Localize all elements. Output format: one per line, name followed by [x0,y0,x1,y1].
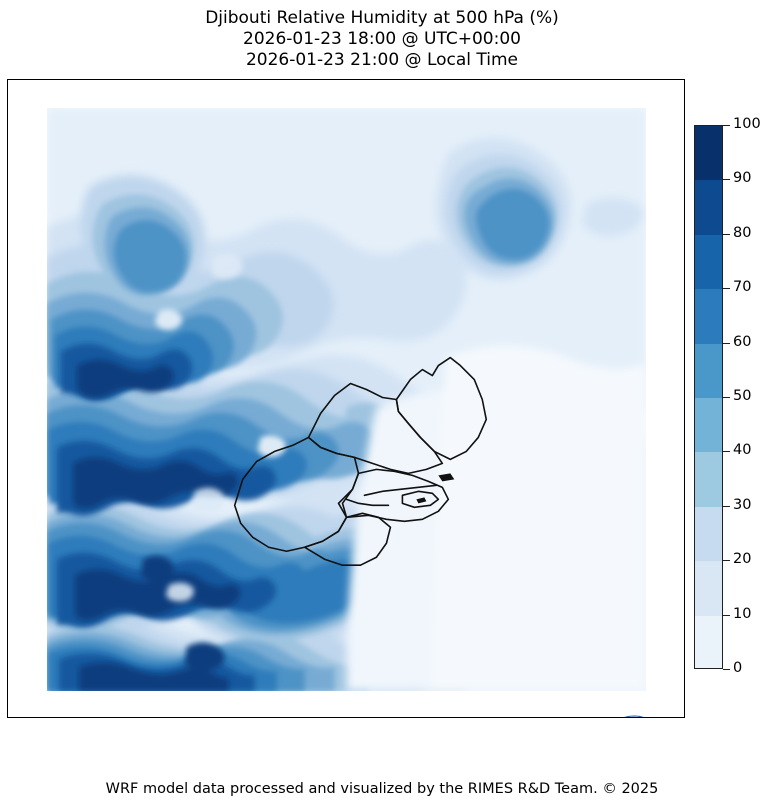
colorbar-band [695,235,722,289]
colorbar-band [695,561,722,615]
map-panel: RIMES [7,79,685,718]
colorbar-band [695,344,722,398]
colorbar-tick-label: 100 [733,117,761,132]
colorbar-band [695,452,722,506]
rimes-logo: RIMES [597,714,671,718]
colorbar-tick-label: 50 [733,389,751,404]
colorbar-tick [723,669,730,670]
colorbar-tick [723,343,730,344]
colorbar-tick-label: 60 [733,335,751,350]
colorbar-tick [723,397,730,398]
colorbar-band [695,398,722,452]
colorbar-tick-label: 90 [733,171,751,186]
colorbar-band [695,507,722,561]
colorbar-tick-label: 40 [733,443,751,458]
humidity-contour-field [47,108,646,691]
colorbar-tick [723,288,730,289]
colorbar-tick [723,125,730,126]
chart-title-block: Djibouti Relative Humidity at 500 hPa (%… [0,8,764,71]
colorbar-tick-label: 10 [733,607,751,622]
humidity-field [47,108,646,691]
colorbar-tick-label: 20 [733,552,751,567]
colorbar-tick [723,234,730,235]
colorbar-tick [723,451,730,452]
colorbar-band [695,616,722,669]
colorbar-band [695,126,722,180]
colorbar-tick [723,560,730,561]
colorbar: 1009080706050403020100 [694,125,764,675]
colorbar-tick-label: 0 [733,661,742,676]
colorbar-tick-label: 70 [733,280,751,295]
title-line-variable: Djibouti Relative Humidity at 500 hPa (%… [0,8,764,29]
title-line-local-time: 2026-01-23 21:00 @ Local Time [0,50,764,71]
colorbar-band [695,180,722,234]
title-line-utc-time: 2026-01-23 18:00 @ UTC+00:00 [0,29,764,50]
colorbar-tick-label: 30 [733,498,751,513]
colorbar-tick [723,179,730,180]
colorbar-tick-label: 80 [733,226,751,241]
colorbar-gradient [694,125,723,669]
colorbar-tick [723,615,730,616]
footer-credit: WRF model data processed and visualized … [0,781,764,797]
colorbar-band [695,289,722,343]
colorbar-tick [723,506,730,507]
